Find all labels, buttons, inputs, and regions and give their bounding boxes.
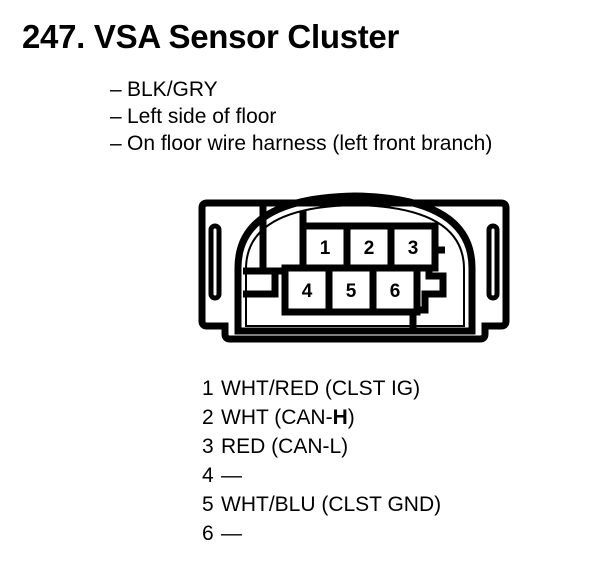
pin-number: 5 [202, 490, 221, 519]
pin-description: — [221, 519, 242, 548]
attribute-text: BLK/GRY [127, 76, 218, 103]
pin-description-emphasis: H [333, 406, 348, 429]
attribute-list: – BLK/GRY – Left side of floor – On floo… [110, 76, 590, 157]
list-item: 3 RED (CAN-L) [202, 432, 592, 461]
pin-number: 3 [202, 432, 221, 461]
cavity-row-bottom: 4 5 6 [285, 268, 417, 312]
list-item: – BLK/GRY [110, 76, 590, 103]
pin-number: 1 [202, 374, 221, 403]
pin-description: — [221, 461, 242, 490]
attribute-text: On floor wire harness (left front branch… [127, 130, 492, 157]
left-keying-notch [243, 271, 275, 294]
pin-number: 6 [202, 519, 221, 548]
pin-legend: 1 WHT/RED (CLST IG) 2 WHT (CAN-H) 3 RED … [202, 374, 592, 548]
list-item: 1 WHT/RED (CLST IG) [202, 374, 592, 403]
list-item: 4 — [202, 461, 592, 490]
page-title: 247. VSA Sensor Cluster [22, 20, 399, 53]
dash-bullet-icon: – [110, 76, 127, 103]
cavity-label-4: 4 [302, 281, 313, 302]
connector-diagram: 1 2 3 4 5 6 [185, 176, 525, 366]
list-item: 6 — [202, 519, 592, 548]
dash-bullet-icon: – [110, 103, 127, 130]
list-item: – On floor wire harness (left front bran… [110, 130, 590, 157]
cavity-label-1: 1 [320, 238, 331, 259]
pin-description-pre: WHT (CAN- [221, 406, 333, 429]
pin-number: 4 [202, 461, 221, 490]
list-item: – Left side of floor [110, 103, 590, 130]
cavity-label-2: 2 [364, 238, 375, 259]
cavity-label-3: 3 [408, 238, 419, 259]
pin-description: WHT (CAN-H) [221, 403, 355, 432]
pin-description: WHT/BLU (CLST GND) [221, 490, 441, 519]
right-flange-slot-icon [489, 226, 497, 298]
pin-description-post: ) [348, 406, 355, 429]
pin-number: 2 [202, 403, 221, 432]
list-item: 5 WHT/BLU (CLST GND) [202, 490, 592, 519]
pin-description: RED (CAN-L) [221, 432, 348, 461]
left-flange-slot-icon [211, 226, 219, 298]
pin-description: WHT/RED (CLST IG) [221, 374, 420, 403]
list-item: 2 WHT (CAN-H) [202, 403, 592, 432]
cavity-row-top: 1 2 3 [303, 226, 435, 268]
dash-bullet-icon: – [110, 130, 127, 157]
cavity-label-5: 5 [346, 281, 357, 302]
attribute-text: Left side of floor [127, 103, 276, 130]
cavity-label-6: 6 [390, 281, 401, 302]
